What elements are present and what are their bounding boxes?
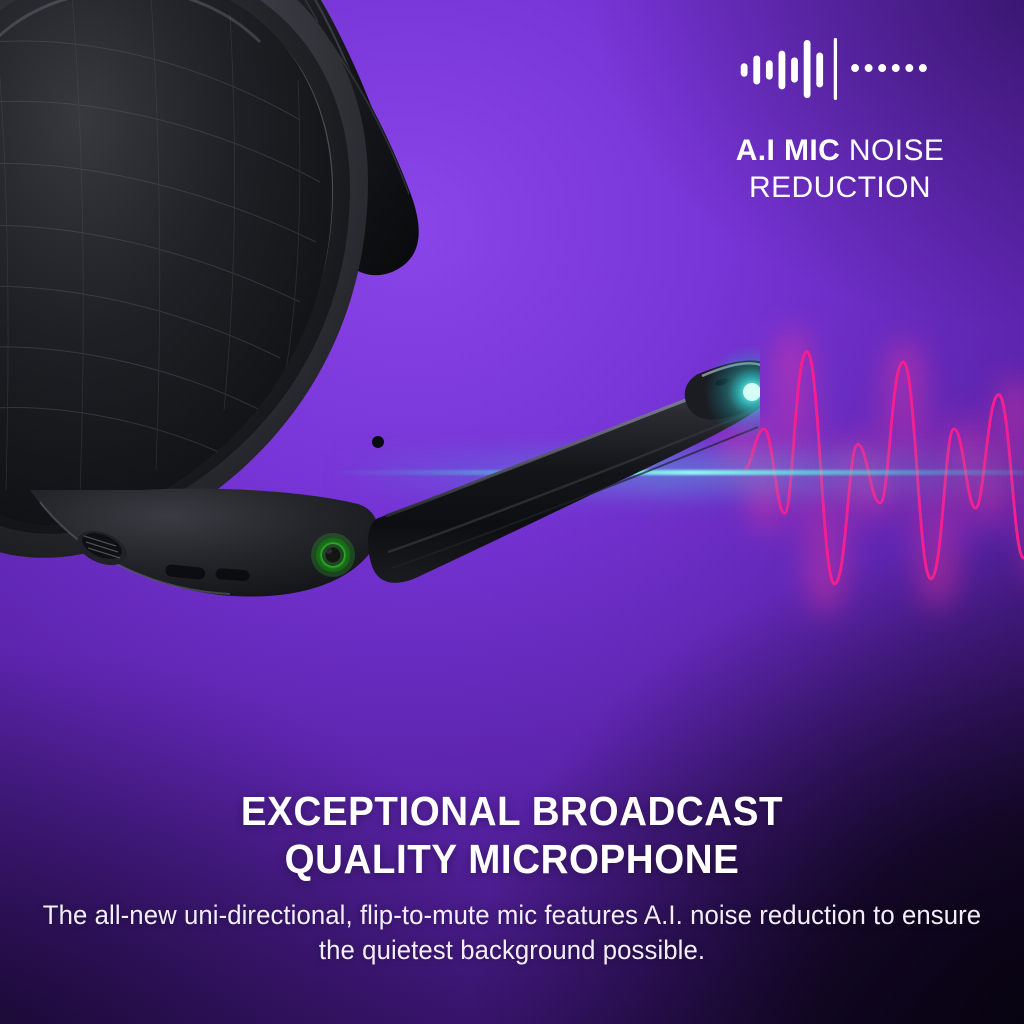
waveform-bar [792,57,799,82]
gaming-headset: L [0,0,760,710]
headline: EXCEPTIONAL BROADCAST QUALITY MICROPHONE [55,787,969,884]
silence-dot [865,64,873,72]
ear-cushion: ACH [0,0,332,525]
waveform-bar [741,63,748,77]
body-copy: The all-new uni-directional, flip-to-mut… [41,898,984,968]
badge-title-light: NOISE [849,134,944,167]
waveform-bar [817,53,824,88]
headline-line1: EXCEPTIONAL BROADCAST [241,788,783,834]
left-earcup: ACH [0,0,384,597]
waveform-divider [834,38,837,100]
silence-dot [919,64,927,72]
badge-title-strong: A.I MIC [736,134,840,167]
mic-pivot-screw [372,436,384,448]
silence-dot [906,64,914,72]
audio-waveform-mic-icon [733,38,946,100]
waveform-bar [779,51,786,90]
silence-dot [852,64,860,72]
silence-dot [892,64,900,72]
product-marketing-image: L [0,0,1024,1024]
status-led [311,533,355,577]
marketing-copy-block: EXCEPTIONAL BROADCAST QUALITY MICROPHONE… [0,787,1024,968]
waveform-bar [804,40,811,98]
headline-line2: QUALITY MICROPHONE [285,836,740,882]
waveform-bar [754,55,761,84]
waveform-bar [766,60,773,79]
silence-dot [879,64,887,72]
ai-mic-badge: A.I MIC NOISE REDUCTION [690,38,990,207]
badge-title-line1: A.I MIC NOISE [690,133,990,168]
earcup-control-housing [30,489,378,597]
badge-title-line2: REDUCTION [690,168,990,207]
